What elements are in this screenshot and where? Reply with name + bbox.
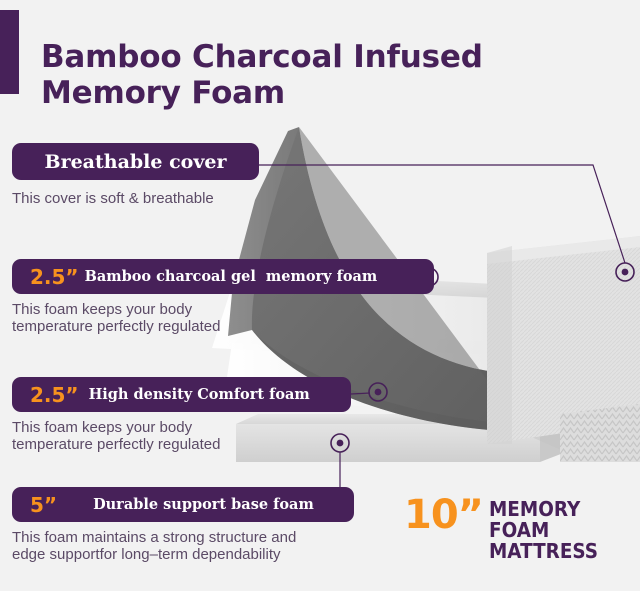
connector-comfort — [351, 383, 387, 401]
callout-badge-base[interactable]: 5” Durable support base foam — [12, 487, 354, 522]
callout-inches-gel: 2.5” — [30, 267, 79, 287]
callout-description-gel: This foam keeps your body temperature pe… — [12, 301, 332, 335]
callout-label-gel: Bamboo charcoal gel memory foam — [85, 269, 378, 285]
callout-description-base: This foam maintains a strong structure a… — [12, 529, 392, 563]
infographic-root: Bamboo Charcoal Infused Memory Foam Brea… — [0, 0, 640, 591]
callout-badge-comfort[interactable]: 2.5” High density Comfort foam — [12, 377, 351, 412]
lockup-size: 10” — [404, 498, 483, 532]
callout-label-cover: Breathable cover — [45, 154, 227, 170]
lockup-text: MEMORY FOAM MATTRESS — [489, 499, 622, 562]
callout-badge-gel[interactable]: 2.5” Bamboo charcoal gel memory foam — [12, 259, 434, 294]
callout-inches-comfort: 2.5” — [30, 385, 79, 405]
callout-badge-cover[interactable]: Breathable cover — [12, 143, 259, 180]
callout-label-comfort: High density Comfort foam — [89, 387, 310, 403]
page-title: Bamboo Charcoal Infused Memory Foam — [41, 39, 511, 111]
connector-base — [331, 434, 349, 489]
callout-description-cover: This cover is soft & breathable — [12, 190, 312, 207]
callout-inches-base: 5” — [30, 495, 57, 515]
callout-description-comfort: This foam keeps your body temperature pe… — [12, 419, 332, 453]
title-accent-bar — [0, 10, 19, 94]
product-size-lockup: 10” MEMORY FOAM MATTRESS — [404, 498, 634, 562]
callout-label-base: Durable support base foam — [93, 497, 314, 513]
knit-cover-side-panel — [480, 236, 640, 462]
